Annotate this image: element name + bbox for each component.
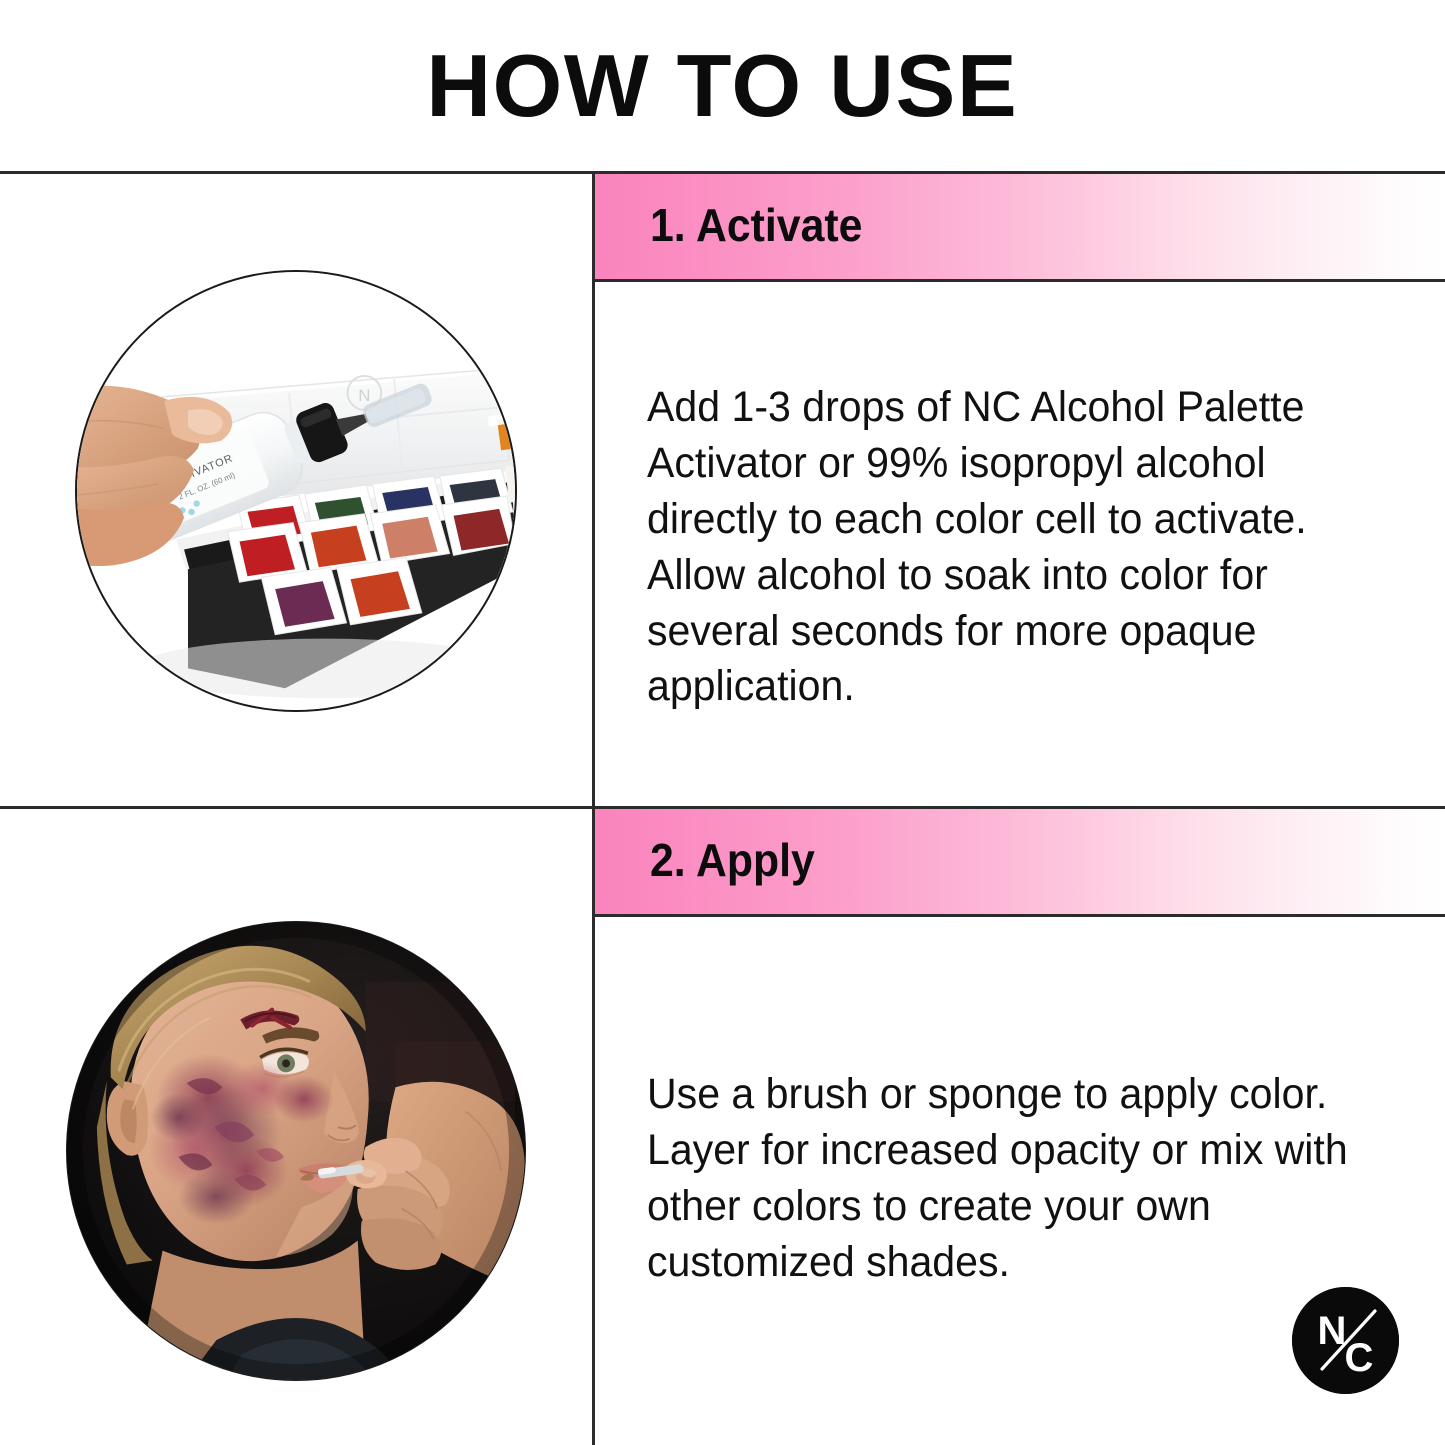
palette-activator-illustration: N — [77, 272, 515, 710]
step-1-label: 1. Activate — [650, 202, 862, 252]
palette-activator-photo: N — [75, 270, 517, 712]
logo-letter-c: C — [1345, 1336, 1374, 1380]
title-band: HOW TO USE — [0, 0, 1445, 172]
step-2-banner: 2. Apply — [595, 809, 1445, 917]
step-1-text-cell: 1. Activate Add 1-3 drops of NC Alcohol … — [595, 174, 1445, 806]
step-1-image-cell: N — [0, 174, 592, 806]
step-2-body: Use a brush or sponge to apply color. La… — [647, 1067, 1354, 1291]
page-title: HOW TO USE — [426, 42, 1018, 130]
applying-makeup-photo — [66, 921, 526, 1381]
applying-makeup-illustration — [67, 922, 525, 1380]
step-1-body: Add 1-3 drops of NC Alcohol Palette Acti… — [647, 380, 1354, 715]
nc-monogram-icon: N C — [1292, 1287, 1399, 1394]
svg-text:N: N — [358, 386, 370, 405]
step-2-label: 2. Apply — [650, 837, 815, 887]
step-2-image-cell — [0, 809, 592, 1445]
step-1-banner: 1. Activate — [595, 174, 1445, 282]
how-to-use-infographic: HOW TO USE — [0, 0, 1445, 1445]
nc-brand-logo: N C — [1292, 1287, 1399, 1394]
